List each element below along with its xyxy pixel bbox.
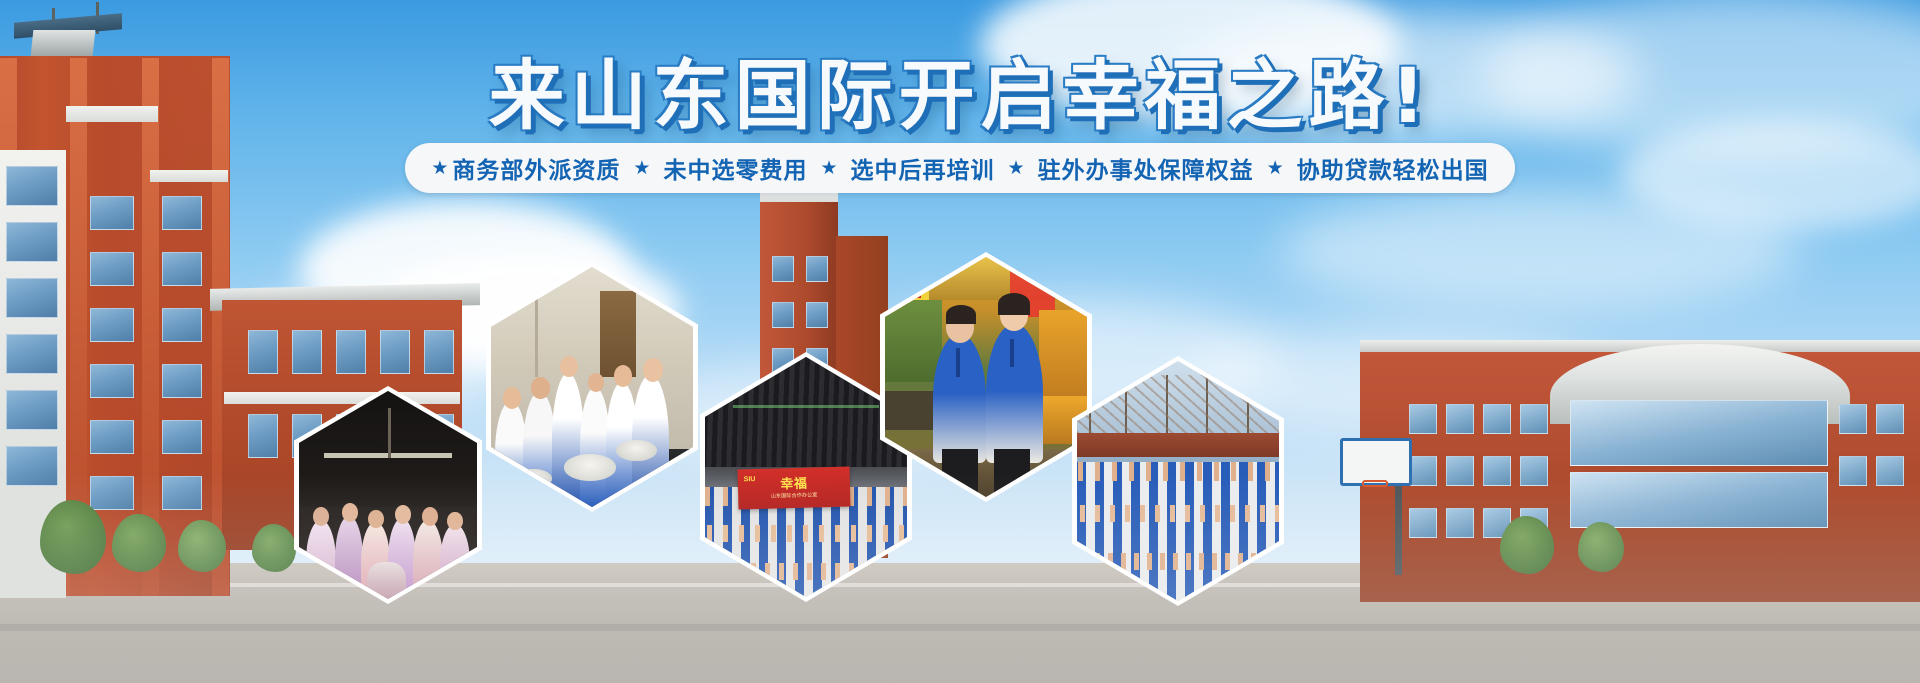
- person-head: [395, 505, 411, 524]
- lanyard: [956, 348, 960, 377]
- hex-photo-4[interactable]: [885, 257, 1087, 497]
- star-icon: ★: [995, 159, 1038, 178]
- person: [986, 324, 1043, 463]
- person-head: [588, 373, 604, 392]
- lanyard: [1010, 339, 1014, 368]
- person: [413, 520, 443, 599]
- person-head: [503, 387, 521, 409]
- hex-photo-2[interactable]: [491, 267, 693, 507]
- person-head: [614, 365, 632, 387]
- person: [523, 392, 555, 507]
- feature-item-3: 选中后再培训: [851, 151, 995, 185]
- person-head: [560, 356, 578, 378]
- person: [933, 334, 986, 464]
- page-title: 来山东国际开启幸福之路!: [0, 34, 1920, 144]
- star-icon: ★: [1254, 159, 1297, 178]
- person-head: [643, 358, 663, 382]
- hex-photo-5[interactable]: [1077, 361, 1279, 601]
- person-head: [447, 512, 463, 531]
- feature-item-1: 商务部外派资质: [452, 151, 620, 185]
- sushi-plate: [564, 454, 617, 480]
- star-icon: ★: [431, 159, 452, 178]
- feature-pill: ★商务部外派资质★未中选零费用★选中后再培训★驻外办事处保障权益★协助贷款轻松出…: [405, 143, 1514, 193]
- sushi-plate: [616, 440, 656, 462]
- photo-content-sushi-class: [491, 267, 693, 507]
- red-banner-title: 幸福: [780, 477, 807, 491]
- photo-content-class-group: [1077, 361, 1279, 601]
- feature-item-5: 协助贷款轻松出国: [1297, 151, 1489, 185]
- star-icon: ★: [807, 159, 850, 178]
- star-icon: ★: [620, 159, 663, 178]
- hero-banner: SIU 幸福 山东国际合作办公室: [0, 0, 1920, 683]
- person: [306, 520, 336, 599]
- person-head: [342, 503, 358, 522]
- siu-badge: SIU: [744, 476, 756, 483]
- feature-item-4: 驻外办事处保障权益: [1038, 151, 1254, 185]
- person-head: [531, 377, 549, 399]
- red-banner-subtitle: 山东国际合作办公室: [771, 492, 818, 499]
- person-head: [422, 507, 438, 526]
- red-congrats-banner: SIU 幸福 山东国际合作办公室: [737, 467, 850, 510]
- feature-item-2: 未中选零费用: [663, 151, 807, 185]
- photo-content-supermarket: [885, 257, 1087, 497]
- feature-pill-wrapper: ★商务部外派资质★未中选零费用★选中后再培训★驻外办事处保障权益★协助贷款轻松出…: [0, 143, 1920, 193]
